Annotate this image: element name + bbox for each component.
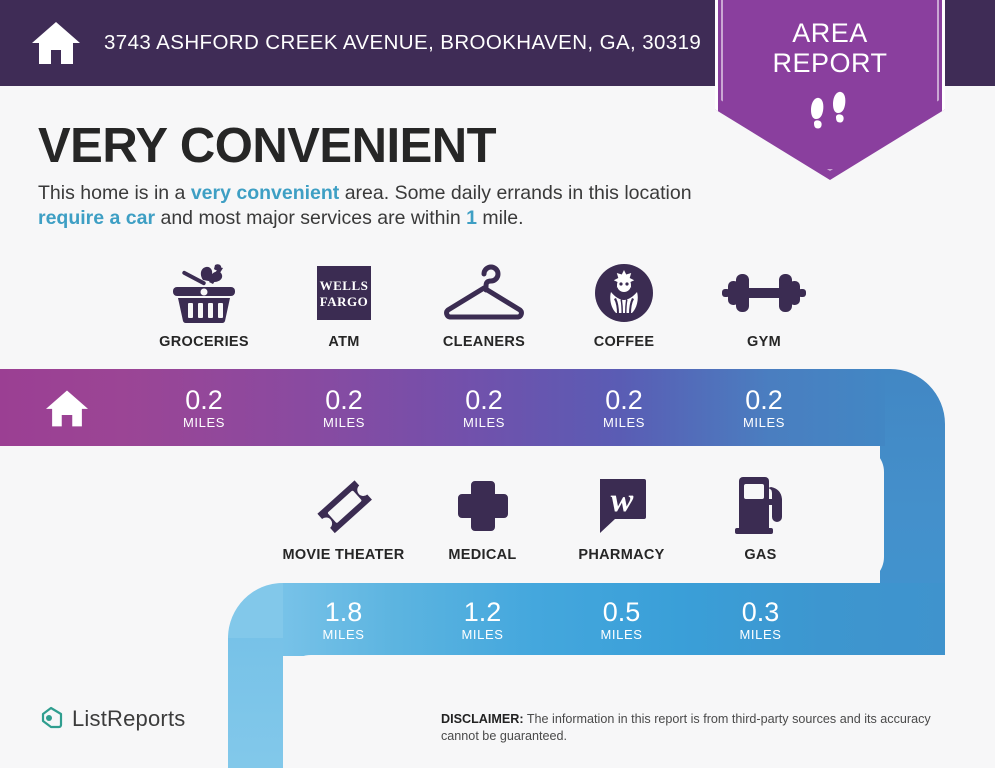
distance-value: 0.2: [465, 386, 503, 414]
distance-unit: MILES: [322, 627, 364, 642]
badge-line-2: REPORT: [715, 48, 945, 78]
badge-text: AREA REPORT: [715, 18, 945, 78]
distance-cell-coffee: 0.2 MILES: [554, 369, 694, 446]
distance-unit: MILES: [183, 415, 225, 430]
wells-fargo-icon: WELLS FARGO: [315, 262, 373, 324]
distance-value: 1.2: [464, 598, 502, 626]
distance-cell-pharmacy: 0.5 MILES: [552, 583, 691, 656]
icon-cell-coffee: COFFEE: [554, 262, 694, 350]
distance-cell-groceries: 0.2 MILES: [134, 369, 274, 446]
distance-cell-movie-theater: 1.8 MILES: [274, 583, 413, 656]
row1-distances: 0.2 MILES 0.2 MILES 0.2 MILES 0.2 MILES …: [0, 369, 834, 446]
svg-text:WELLS: WELLS: [320, 278, 369, 293]
icon-cell-gas: GAS: [691, 475, 830, 563]
dumbbell-icon: [722, 262, 806, 324]
row2-distances: 1.8 MILES 1.2 MILES 0.5 MILES 0.3 MILES: [274, 583, 830, 656]
distance-unit: MILES: [743, 415, 785, 430]
gas-pump-icon: [731, 475, 791, 537]
icon-label-atm: ATM: [328, 334, 359, 350]
movie-ticket-icon: [313, 475, 375, 537]
walgreens-icon: w: [594, 475, 650, 537]
icon-label-medical: MEDICAL: [448, 547, 516, 563]
footprints-icon: [807, 90, 853, 142]
icon-label-gas: GAS: [744, 547, 776, 563]
icon-label-gym: GYM: [747, 334, 781, 350]
distance-value: 1.8: [325, 598, 363, 626]
distance-cell-gas: 0.3 MILES: [691, 583, 830, 656]
icon-label-pharmacy: PHARMACY: [578, 547, 664, 563]
area-report-badge: AREA REPORT: [715, 0, 945, 180]
home-icon: [43, 387, 91, 429]
distance-unit: MILES: [603, 415, 645, 430]
distance-value: 0.2: [325, 386, 363, 414]
distance-cell-cleaners: 0.2 MILES: [414, 369, 554, 446]
hanger-icon: [438, 262, 530, 324]
grocery-basket-icon: [167, 262, 241, 324]
medical-cross-icon: [455, 475, 511, 537]
row1-icons: GROCERIES WELLS FARGO ATM CLEANERS: [134, 262, 852, 350]
icon-cell-atm: WELLS FARGO ATM: [274, 262, 414, 350]
distance-cell-atm: 0.2 MILES: [274, 369, 414, 446]
icon-label-movie-theater: MOVIE THEATER: [282, 547, 404, 563]
icon-label-groceries: GROCERIES: [159, 334, 249, 350]
badge-line-1: AREA: [715, 18, 945, 48]
listreports-logo-icon: [38, 706, 64, 732]
icon-cell-groceries: GROCERIES: [134, 262, 274, 350]
distance-value: 0.2: [745, 386, 783, 414]
distance-value: 0.5: [603, 598, 641, 626]
icon-cell-pharmacy: w PHARMACY: [552, 475, 691, 563]
icon-cell-cleaners: CLEANERS: [414, 262, 554, 350]
icon-cell-gym: GYM: [694, 262, 834, 350]
distance-value: 0.2: [185, 386, 223, 414]
starbucks-icon: [593, 262, 655, 324]
svg-text:FARGO: FARGO: [320, 294, 368, 309]
icon-cell-movie-theater: MOVIE THEATER: [274, 475, 413, 563]
distance-value: 0.2: [605, 386, 643, 414]
distance-unit: MILES: [323, 415, 365, 430]
distance-unit: MILES: [600, 627, 642, 642]
svg-text:w: w: [610, 482, 633, 519]
disclaimer: DISCLAIMER: The information in this repo…: [441, 711, 961, 744]
icon-label-cleaners: CLEANERS: [443, 334, 525, 350]
distance-value: 0.3: [742, 598, 780, 626]
distance-cell-medical: 1.2 MILES: [413, 583, 552, 656]
distance-unit: MILES: [463, 415, 505, 430]
brand-name: ListReports: [72, 706, 185, 732]
icon-cell-medical: MEDICAL: [413, 475, 552, 563]
area-report-page: 3743 ASHFORD CREEK AVENUE, BROOKHAVEN, G…: [0, 0, 995, 768]
brand-logo: ListReports: [38, 706, 185, 732]
ribbon-bottom-tail: [228, 638, 283, 768]
distance-cell-gym: 0.2 MILES: [694, 369, 834, 446]
distance-unit: MILES: [461, 627, 503, 642]
disclaimer-label: DISCLAIMER:: [441, 712, 524, 726]
distance-unit: MILES: [739, 627, 781, 642]
row2-icons: MOVIE THEATER MEDICAL w PHARMACY: [274, 475, 830, 563]
icon-label-coffee: COFFEE: [594, 334, 655, 350]
ribbon-home-marker: [0, 369, 134, 446]
